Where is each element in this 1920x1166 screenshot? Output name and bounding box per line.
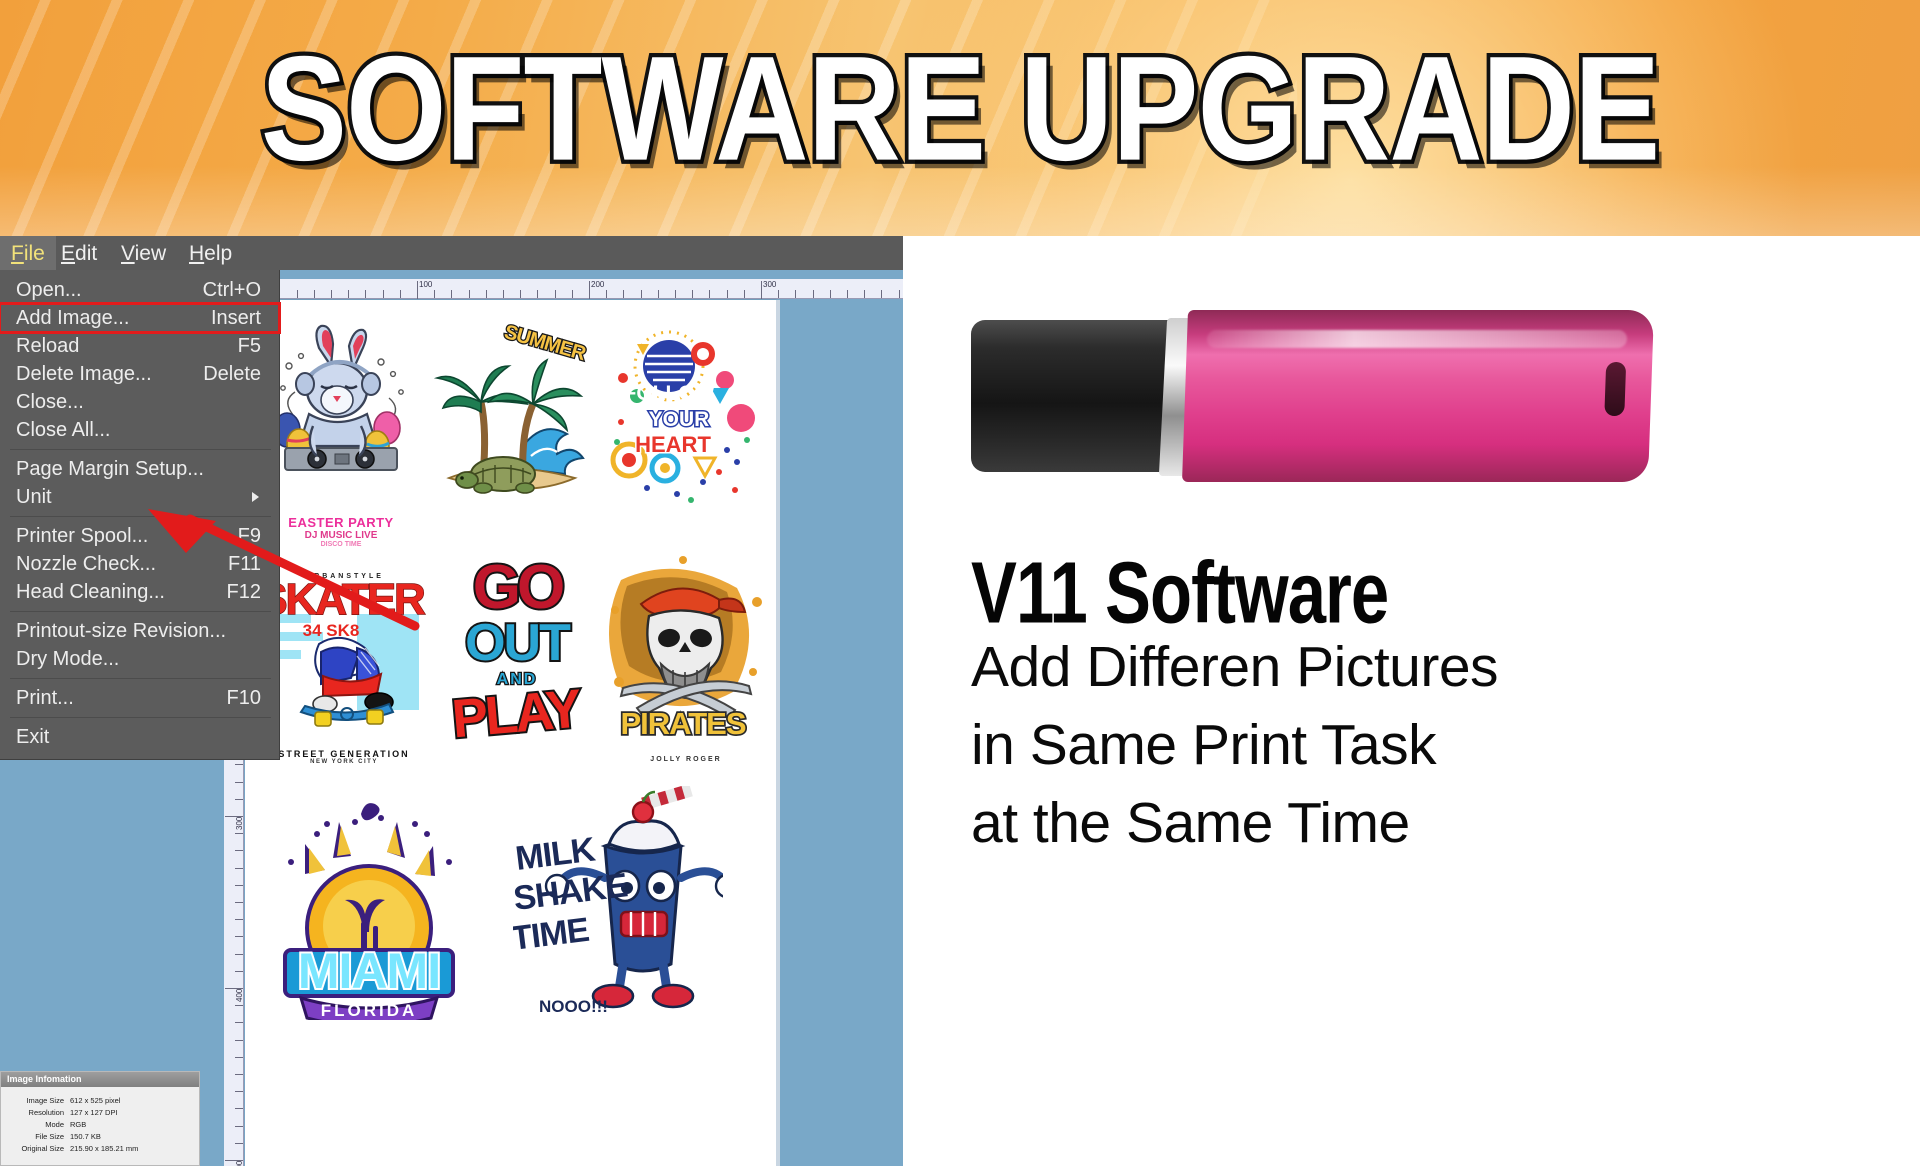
ruler-tick <box>847 290 848 298</box>
ruler-tick <box>235 1022 243 1023</box>
svg-text:GO: GO <box>473 556 563 622</box>
image-information-panel: Image Infomation Image Size 612 x 525 pi… <box>0 1071 200 1166</box>
canvas-area: mm 0100200300 100200300400500 <box>224 270 903 1166</box>
menu-edit[interactable]: Edit <box>50 236 108 270</box>
miami-word: MIAMI <box>298 943 440 999</box>
ruler-tick <box>235 850 243 851</box>
design-grid: EASTER PARTY DJ MUSIC LIVE DISCO TIME <box>255 308 766 1158</box>
ruler-tick <box>235 1074 243 1075</box>
ruler-label: 100 <box>419 280 432 289</box>
menu-item-label: Unit <box>16 486 52 508</box>
menu-item-printer-spool[interactable]: Printer Spool...F9 <box>0 522 279 550</box>
menu-item-label: Open... <box>16 279 82 301</box>
ruler-tick <box>400 290 401 298</box>
menu-item-print[interactable]: Print...F10 <box>0 684 279 712</box>
design-caption-sub2: NEW YORK CITY <box>261 759 427 765</box>
design-item-skater[interactable]: URBANSTYLE SKATER 34 SK8 <box>261 556 427 746</box>
ruler-label: 300 <box>235 817 244 830</box>
promo-heading: V11 Software <box>971 542 1388 642</box>
ruler-tick <box>365 290 366 298</box>
milkshake-exclaim: NOOO!!! <box>539 997 608 1016</box>
submenu-arrow-icon <box>252 492 259 502</box>
usb-flash-drive <box>971 296 1671 496</box>
ruler-tick <box>235 1040 243 1041</box>
menu-separator <box>10 516 271 517</box>
ruler-tick <box>503 290 504 298</box>
ruler-tick <box>331 290 332 298</box>
svg-text:YOUR: YOUR <box>649 408 710 431</box>
menu-view[interactable]: View <box>110 236 177 270</box>
ruler-tick <box>692 290 693 298</box>
design-item-pirates[interactable]: PIRATES JOLLY ROGER <box>607 552 765 752</box>
menu-item-label: Delete Image... <box>16 363 152 385</box>
info-row: Image Size 612 x 525 pixel <box>5 1094 141 1106</box>
image-information-table: Image Size 612 x 525 pixel Resolution 12… <box>5 1094 141 1154</box>
file-dropdown-menu[interactable]: Open...Ctrl+OAdd Image...InsertReloadF5D… <box>0 270 280 760</box>
info-row: Mode RGB <box>5 1118 141 1130</box>
svg-text:HEART: HEART <box>635 432 711 457</box>
promo-line-2: in Same Print Task <box>971 712 1436 778</box>
info-value: RGB <box>67 1118 141 1130</box>
info-key: Mode <box>5 1118 67 1130</box>
menu-item-label: Reload <box>16 335 79 357</box>
menu-item-printout-size-revision[interactable]: Printout-size Revision... <box>0 617 279 645</box>
menu-item-label: Printout-size Revision... <box>16 620 226 642</box>
menu-item-label: Exit <box>16 726 49 748</box>
ruler-tick <box>235 833 243 834</box>
ruler-tick <box>235 1143 243 1144</box>
ruler-tick <box>778 290 779 298</box>
info-value: 215.90 x 185.21 mm <box>67 1142 141 1154</box>
printer-application-window: File Edit View Help mm 0100200300 100200… <box>0 236 903 1166</box>
ruler-label: 300 <box>763 280 776 289</box>
ruler-tick <box>606 290 607 298</box>
menu-item-close-all[interactable]: Close All... <box>0 416 279 444</box>
menu-separator <box>10 678 271 679</box>
menu-item-delete-image[interactable]: Delete Image...Delete <box>0 360 279 388</box>
info-row: Resolution 127 x 127 DPI <box>5 1106 141 1118</box>
info-key: File Size <box>5 1130 67 1142</box>
promo-panel: V11 Software Add Differen Pictures in Sa… <box>903 236 1920 1166</box>
menu-bar: File Edit View Help <box>0 236 903 270</box>
menu-file[interactable]: File <box>0 236 56 270</box>
design-caption-sub2: DISCO TIME <box>261 541 421 548</box>
svg-text:PIRATES: PIRATES <box>620 706 745 741</box>
ruler-tick <box>235 902 243 903</box>
ruler-label: 400 <box>235 989 244 1002</box>
ruler-tick <box>235 782 243 783</box>
print-page[interactable]: EASTER PARTY DJ MUSIC LIVE DISCO TIME <box>245 300 776 1166</box>
info-key: Image Size <box>5 1094 67 1106</box>
page-right-edge <box>776 300 780 1166</box>
ruler-tick <box>795 290 796 298</box>
menu-item-page-margin-setup[interactable]: Page Margin Setup... <box>0 455 279 483</box>
ruler-label: 200 <box>591 280 604 289</box>
svg-text:34 SK8: 34 SK8 <box>303 621 360 640</box>
ruler-tick <box>469 290 470 298</box>
promo-line-1: Add Differen Pictures <box>971 634 1498 700</box>
ruler-tick <box>555 290 556 298</box>
ruler-tick <box>537 290 538 298</box>
design-item-easter-party[interactable]: EASTER PARTY DJ MUSIC LIVE DISCO TIME <box>261 322 421 512</box>
usb-highlight <box>1207 330 1628 348</box>
ruler-tick <box>383 290 384 298</box>
menu-item-unit[interactable]: Unit <box>0 483 279 511</box>
ruler-tick <box>813 290 814 298</box>
ruler-tick <box>235 1057 243 1058</box>
ruler-tick <box>451 290 452 298</box>
ruler-tick <box>235 971 243 972</box>
menu-separator <box>10 449 271 450</box>
ruler-tick <box>314 290 315 298</box>
menu-item-shortcut: F11 <box>228 550 261 578</box>
info-value: 150.7 KB <box>67 1130 141 1142</box>
menu-item-open[interactable]: Open...Ctrl+O <box>0 276 279 304</box>
design-item-miami-florida[interactable]: MIAMI FLORIDA <box>269 800 497 1020</box>
menu-item-head-cleaning[interactable]: Head Cleaning...F12 <box>0 578 279 606</box>
ruler-tick <box>235 954 243 955</box>
ruler-tick <box>235 936 243 937</box>
ruler-tick <box>434 290 435 298</box>
menu-item-label: Nozzle Check... <box>16 553 156 575</box>
ruler-tick <box>709 290 710 298</box>
ruler-tick <box>675 290 676 298</box>
ruler-tick <box>658 290 659 298</box>
menu-item-label: Head Cleaning... <box>16 581 165 603</box>
menu-item-label: Dry Mode... <box>16 648 119 670</box>
design-item-follow-your-heart[interactable]: FOLLOW YOUR HEART <box>607 322 759 522</box>
menu-item-shortcut: F5 <box>238 332 261 360</box>
ruler-tick <box>520 290 521 298</box>
menu-item-shortcut: Ctrl+O <box>203 276 261 304</box>
design-caption-sub1: STREET GENERATION <box>261 749 427 759</box>
ruler-label: 500 <box>235 1161 244 1166</box>
menu-item-close[interactable]: Close... <box>0 388 279 416</box>
info-key: Original Size <box>5 1142 67 1154</box>
ruler-tick <box>235 1091 243 1092</box>
ruler-tick <box>348 290 349 298</box>
menu-item-label: Page Margin Setup... <box>16 458 204 480</box>
menu-item-label: Add Image... <box>16 307 129 329</box>
svg-text:OUT: OUT <box>465 614 571 672</box>
ruler-tick <box>235 764 243 765</box>
ruler-tick <box>881 290 882 298</box>
ruler-tick <box>235 1126 243 1127</box>
promo-banner: SOFTWARE UPGRADE <box>0 0 1920 236</box>
image-information-title: Image Infomation <box>1 1072 199 1087</box>
ruler-tick <box>589 281 590 299</box>
promo-line-3: at the Same Time <box>971 790 1410 856</box>
design-item-milk-shake-time[interactable]: MILK SHAKE TIME NOOO!!! <box>513 786 723 1026</box>
svg-text:TIME: TIME <box>513 911 591 958</box>
info-value: 612 x 525 pixel <box>67 1094 141 1106</box>
menu-separator <box>10 717 271 718</box>
info-value: 127 x 127 DPI <box>67 1106 141 1118</box>
menu-item-shortcut: Insert <box>211 304 261 332</box>
menu-separator <box>10 611 271 612</box>
ruler-tick <box>761 281 762 299</box>
info-row: File Size 150.7 KB <box>5 1130 141 1142</box>
menu-item-label: Print... <box>16 687 74 709</box>
ruler-tick <box>744 290 745 298</box>
ruler-tick <box>297 290 298 298</box>
ruler-tick <box>235 919 243 920</box>
design-caption-title: EASTER PARTY <box>261 515 421 530</box>
design-caption-sub1: DJ MUSIC LIVE <box>261 530 421 541</box>
ruler-tick <box>235 868 243 869</box>
ruler-tick <box>727 290 728 298</box>
menu-item-label: Close All... <box>16 419 110 441</box>
banner-title: SOFTWARE UPGRADE <box>0 34 1920 183</box>
ruler-tick <box>235 885 243 886</box>
menu-item-shortcut: F10 <box>227 684 261 712</box>
ruler-tick <box>864 290 865 298</box>
svg-text:PLAY: PLAY <box>450 678 585 746</box>
menu-help[interactable]: Help <box>178 236 243 270</box>
ruler-tick <box>623 290 624 298</box>
ruler-tick <box>572 290 573 298</box>
menu-item-shortcut: Delete <box>203 360 261 388</box>
menu-item-shortcut: F12 <box>227 578 261 606</box>
info-row: Original Size 215.90 x 185.21 mm <box>5 1142 141 1154</box>
menu-item-dry-mode[interactable]: Dry Mode... <box>0 645 279 673</box>
usb-cap <box>971 320 1171 472</box>
ruler-tick <box>486 290 487 298</box>
design-item-summer[interactable]: SUMMER <box>431 328 601 518</box>
horizontal-ruler: mm 0100200300 <box>224 279 903 299</box>
ruler-tick <box>235 799 243 800</box>
ruler-tick <box>830 290 831 298</box>
menu-item-label: Close... <box>16 391 84 413</box>
menu-item-add-image[interactable]: Add Image...Insert <box>0 304 279 332</box>
design-caption-sub1: JOLLY ROGER <box>607 756 765 763</box>
ruler-tick <box>235 1108 243 1109</box>
design-item-go-out-and-play[interactable]: GO OUT AND PLAY <box>437 556 601 746</box>
usb-notch <box>1604 362 1626 416</box>
menu-item-label: Printer Spool... <box>16 525 148 547</box>
ruler-tick <box>899 290 900 298</box>
ruler-tick <box>235 1005 243 1006</box>
menu-item-shortcut: F9 <box>238 522 261 550</box>
menu-item-exit[interactable]: Exit <box>0 723 279 751</box>
menu-item-nozzle-check[interactable]: Nozzle Check...F11 <box>0 550 279 578</box>
florida-word: FLORIDA <box>321 1001 418 1020</box>
info-key: Resolution <box>5 1106 67 1118</box>
svg-text:FOLLOW: FOLLOW <box>624 382 715 405</box>
menu-item-reload[interactable]: ReloadF5 <box>0 332 279 360</box>
ruler-tick <box>417 281 418 299</box>
ruler-tick <box>641 290 642 298</box>
svg-text:SKATER: SKATER <box>261 575 425 624</box>
